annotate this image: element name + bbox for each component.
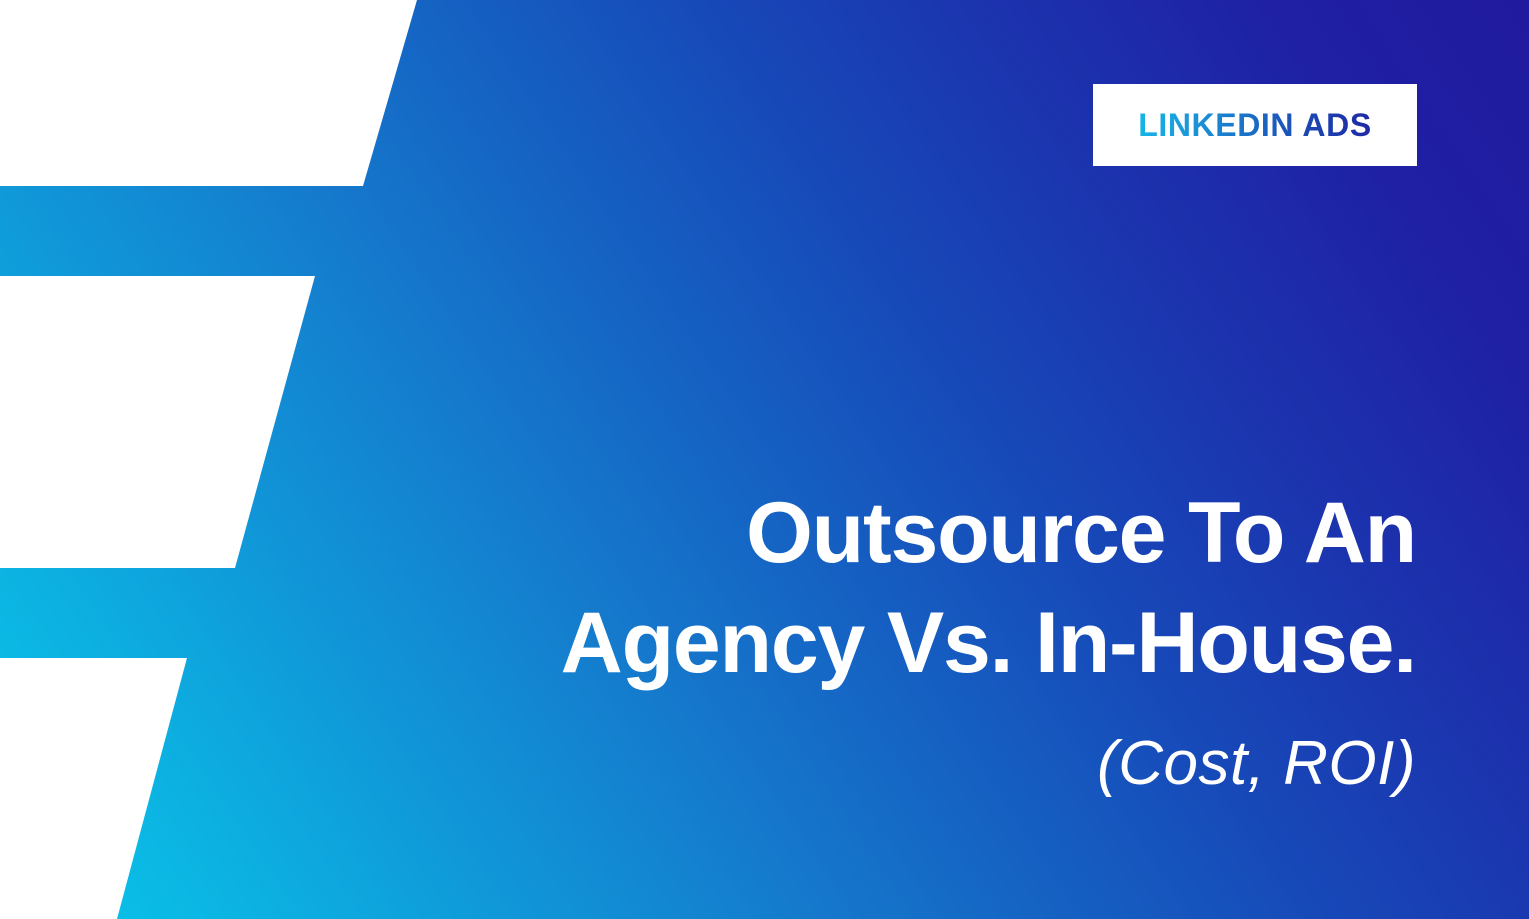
bottom-white-band-shape [0,658,187,919]
headline-line-1: Outsource To An [356,478,1416,588]
category-badge-label: LINKEDIN ADS [1138,107,1372,144]
subtitle-text: (Cost, ROI) [716,726,1416,802]
promo-banner: LINKEDIN ADS Outsource To An Agency Vs. … [0,0,1529,919]
headline-line-2: Agency Vs. In-House. [356,588,1416,698]
top-white-band-shape [0,0,417,186]
category-badge: LINKEDIN ADS [1093,84,1417,166]
headline-block: Outsource To An Agency Vs. In-House. [356,478,1416,698]
middle-white-band-shape [0,276,315,568]
